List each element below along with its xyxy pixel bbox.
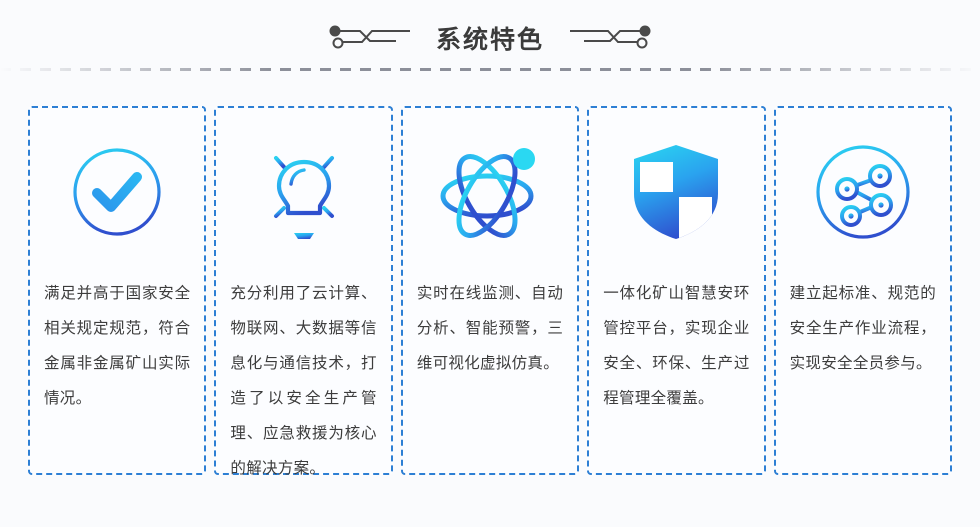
circuit-line-left-icon (326, 22, 418, 57)
feature-card-list: 满足并高于国家安全相关规定规范，符合金属非金属矿山实际情况。 (28, 106, 952, 475)
feature-card-text: 充分利用了云计算、物联网、大数据等信息化与通信技术，打造了以安全生产管理、应急救… (230, 276, 376, 486)
header-dashed-rule (0, 68, 980, 71)
feature-card-4[interactable]: 一体化矿山智慧安环管控平台，实现企业安全、环保、生产过程管理全覆盖。 (587, 106, 765, 475)
network-nodes-circle-icon (813, 108, 913, 276)
feature-card-text: 一体化矿山智慧安环管控平台，实现企业安全、环保、生产过程管理全覆盖。 (603, 276, 749, 416)
lightbulb-icon (256, 108, 352, 276)
page-title: 系统特色 (436, 27, 544, 52)
shield-icon (628, 108, 724, 276)
header-inner: 系统特色 (326, 22, 654, 57)
atom-icon (438, 108, 542, 276)
feature-card-3[interactable]: 实时在线监测、自动分析、智能预警，三维可视化虚拟仿真。 (401, 106, 579, 475)
check-circle-icon (69, 108, 165, 276)
feature-card-text: 满足并高于国家安全相关规定规范，符合金属非金属矿山实际情况。 (44, 276, 190, 416)
feature-card-2[interactable]: 充分利用了云计算、物联网、大数据等信息化与通信技术，打造了以安全生产管理、应急救… (214, 106, 392, 475)
feature-card-5[interactable]: 建立起标准、规范的安全生产作业流程，实现安全全员参与。 (774, 106, 952, 475)
feature-card-1[interactable]: 满足并高于国家安全相关规定规范，符合金属非金属矿山实际情况。 (28, 106, 206, 475)
feature-card-text: 建立起标准、规范的安全生产作业流程，实现安全全员参与。 (790, 276, 936, 381)
feature-card-text: 实时在线监测、自动分析、智能预警，三维可视化虚拟仿真。 (417, 276, 563, 381)
circuit-line-right-icon (562, 22, 654, 57)
section-header: 系统特色 (0, 0, 980, 90)
